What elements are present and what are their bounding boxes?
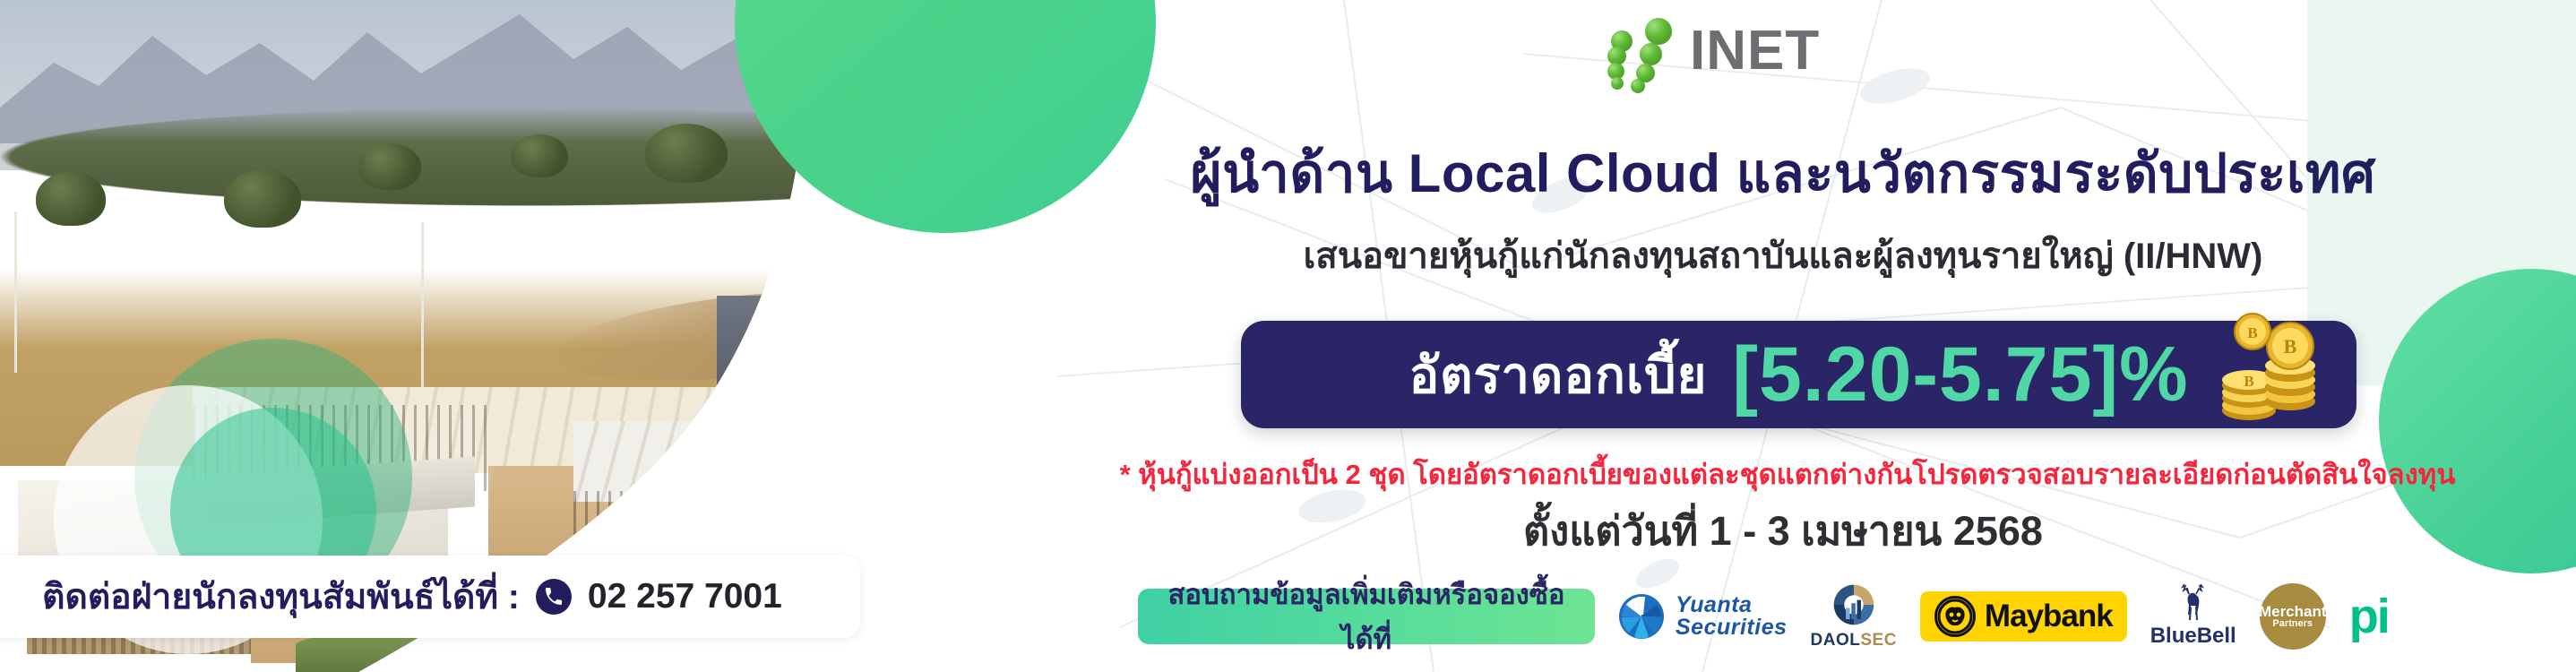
partner-logo-bluebell[interactable]: BlueBell	[2150, 582, 2236, 650]
bluebell-stag-icon	[2171, 584, 2216, 622]
contact-label: ติดต่อฝ่ายนักลงทุนสัมพันธ์ได้ที่ :	[42, 569, 520, 625]
tree	[358, 143, 421, 190]
inet-logo: INET	[1604, 16, 1908, 86]
daol-wordmark: DAOLSEC	[1811, 631, 1897, 650]
pi-wordmark: pi	[2349, 592, 2389, 641]
disclaimer-text: * หุ้นกู้แบ่งออกเป็น 2 ชุด โดยอัตราดอกเบ…	[1030, 452, 2545, 496]
interest-rate-box: อัตราดอกเบี้ย [5.20-5.75]% B	[1241, 321, 2356, 428]
utility-pole	[421, 222, 424, 392]
investor-relations-contact[interactable]: ติดต่อฝ่ายนักลงทุนสัมพันธ์ได้ที่ : 02 25…	[0, 556, 860, 638]
tree	[36, 172, 106, 226]
inet-logo-dots-icon	[1604, 16, 1686, 86]
partner-logo-daol-sec[interactable]: DAOLSEC	[1811, 582, 1897, 650]
tree	[511, 134, 568, 177]
inet-logo-wordmark: INET	[1690, 23, 1820, 79]
contact-phone-number: 02 257 7001	[588, 577, 782, 616]
interest-rate-label: อัตราดอกเบี้ย	[1409, 335, 1707, 415]
utility-pole	[815, 202, 818, 337]
maybank-tiger-icon	[1934, 596, 1976, 637]
page-title: ผู้นำด้าน Local Cloud และนวัตกรรมระดับปร…	[1066, 143, 2500, 203]
building-rear-roof	[744, 301, 1057, 321]
phone-icon	[536, 579, 572, 615]
building-right-roof	[573, 421, 1057, 502]
merchant-line1: Merchant	[2259, 604, 2327, 619]
bluebell-wordmark: BlueBell	[2150, 624, 2236, 649]
tree	[645, 124, 728, 183]
partner-logo-yuanta-securities[interactable]: Yuanta Securities	[1618, 582, 1788, 650]
partner-logo-maybank[interactable]: Maybank	[1920, 582, 2127, 650]
inet-bond-offering-banner: INET ผู้นำด้าน Local Cloud และนวัตกรรมระ…	[0, 0, 2576, 672]
svg-text:B: B	[2247, 324, 2257, 341]
maybank-wordmark: Maybank	[1985, 599, 2113, 634]
gold-coins-icon: B B B	[2197, 305, 2331, 439]
content-column: INET ผู้นำด้าน Local Cloud และนวัตกรรมระ…	[1030, 0, 2576, 672]
offer-date-range: ตั้งแต่วันที่ 1 - 3 เมษายน 2568	[1066, 498, 2500, 563]
svg-text:B: B	[2284, 335, 2297, 358]
rooftop-equipment	[771, 280, 1039, 305]
building-rear-end	[717, 296, 771, 414]
yuanta-pinwheel-icon	[1618, 593, 1665, 640]
interest-rate-value: [5.20-5.75]%	[1732, 336, 2188, 413]
subtitle: เสนอขายหุ้นกู้แก่นักลงทุนสถาบันและผู้ลงท…	[1066, 235, 2500, 278]
building-rear	[744, 315, 1057, 414]
inquiry-cta-button[interactable]: สอบถามข้อมูลเพิ่มเติมหรือจองซื้อได้ที่	[1138, 589, 1595, 644]
partner-logo-merchant-partners[interactable]: Merchant Partners	[2260, 582, 2326, 650]
merchant-line2: Partners	[2272, 619, 2313, 629]
partner-logo-pi-securities[interactable]: pi	[2349, 582, 2389, 650]
daol-circle-icon	[1829, 582, 1879, 627]
tree	[224, 170, 301, 228]
utility-pole	[14, 211, 17, 373]
cta-and-partners-row: สอบถามข้อมูลเพิ่มเติมหรือจองซื้อได้ที่ Y…	[1138, 581, 2572, 652]
yuanta-wordmark: Yuanta Securities	[1676, 594, 1788, 639]
svg-text:B: B	[2244, 373, 2253, 390]
